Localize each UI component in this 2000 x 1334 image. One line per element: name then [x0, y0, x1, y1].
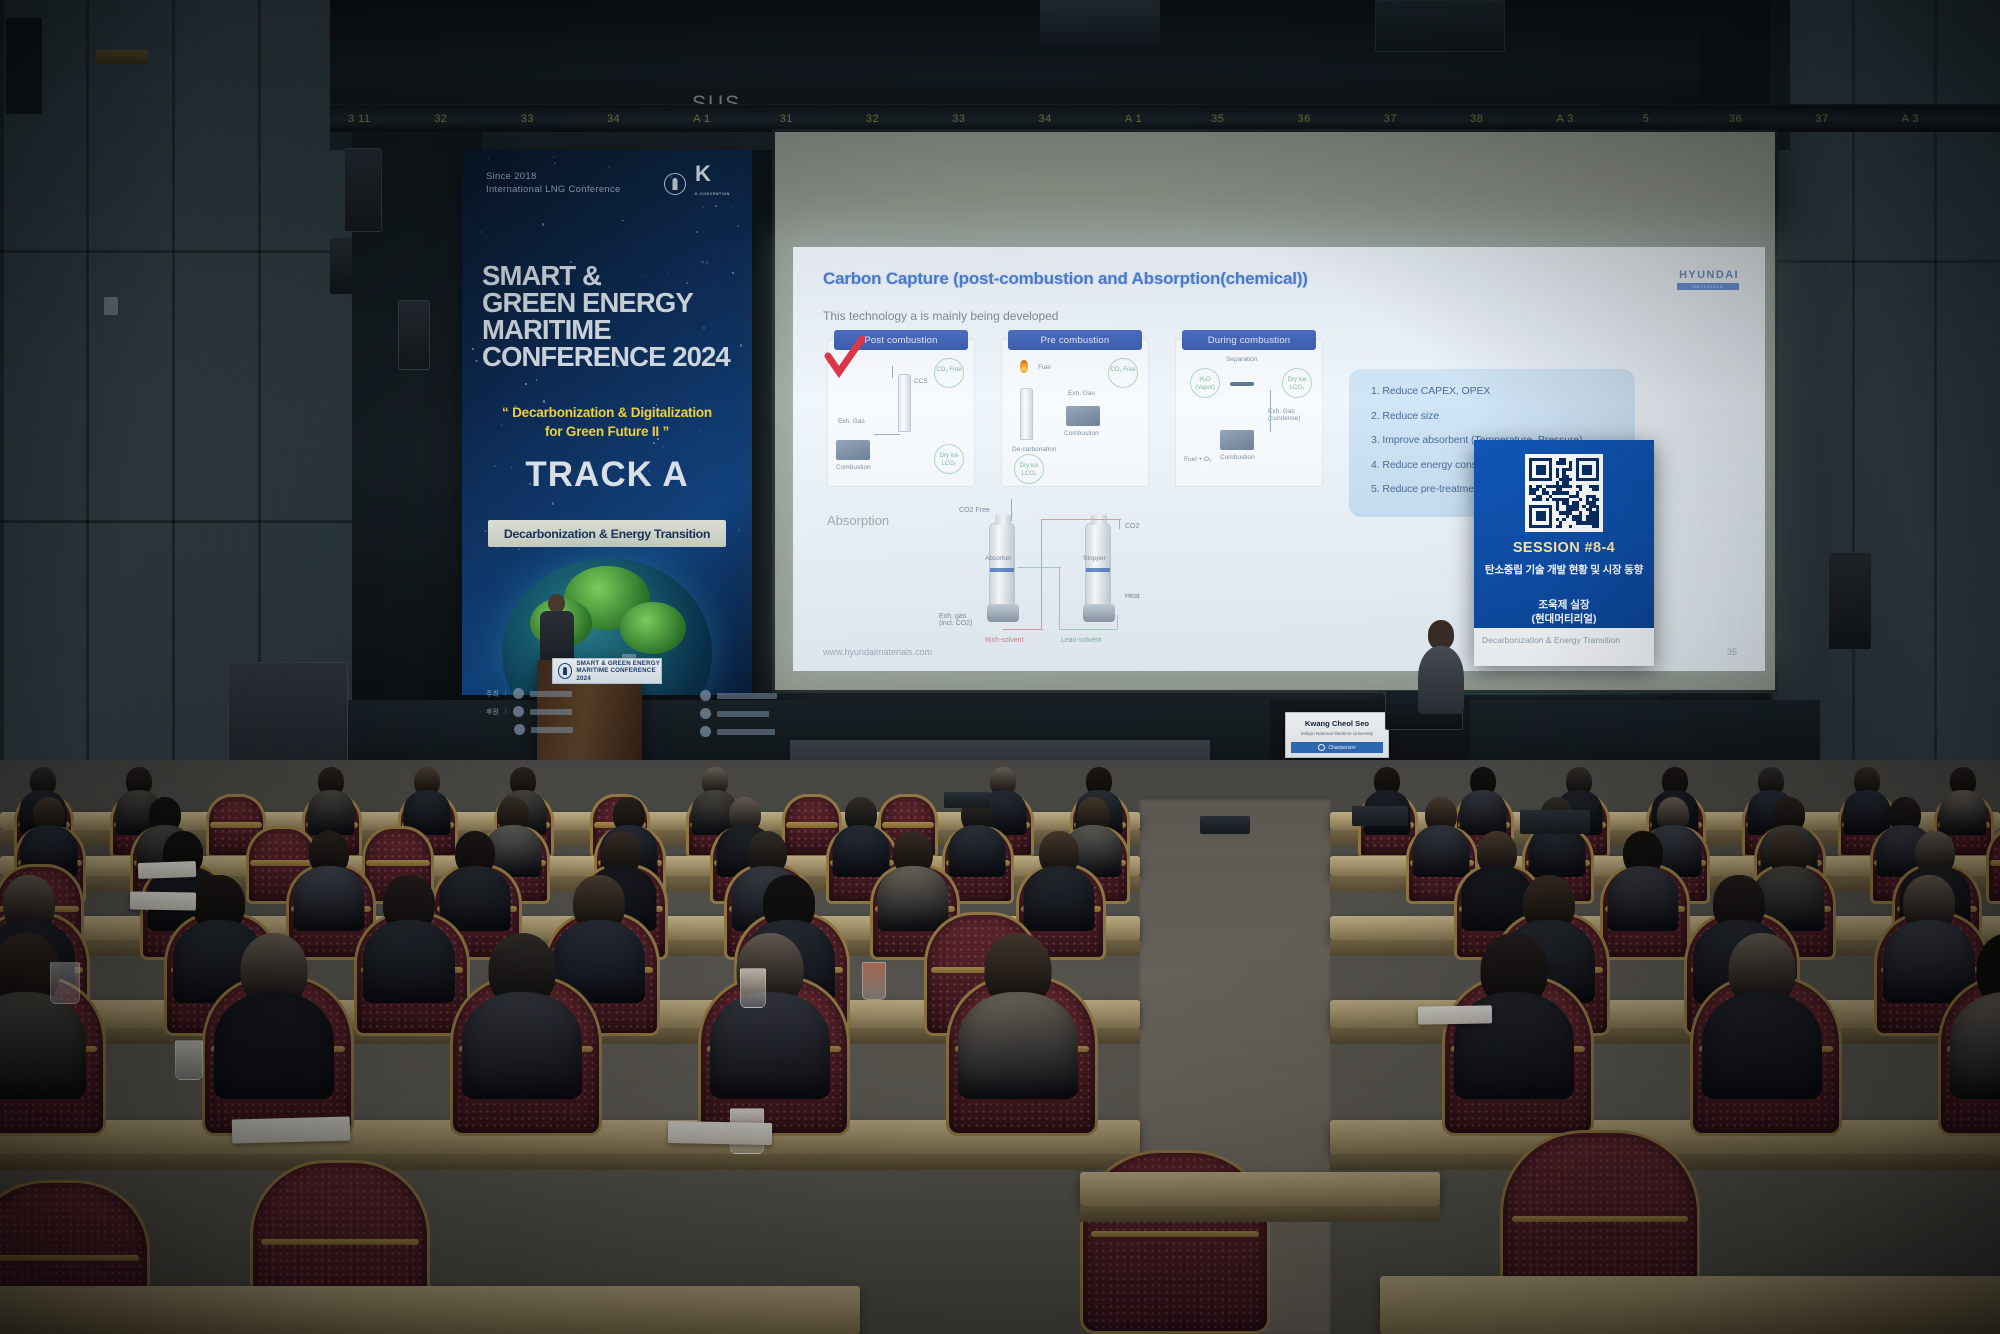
- banner-since-text: Since 2018: [486, 171, 537, 182]
- engine-icon-3: [1220, 430, 1254, 450]
- tip-item: 1. Reduce CAPEX, OPEX: [1371, 385, 1635, 397]
- session-topic-korean: 탄소중립 기술 개발 현황 및 시장 동향: [1474, 562, 1654, 577]
- audience-person[interactable]: [363, 875, 455, 993]
- laptop[interactable]: [1200, 816, 1250, 834]
- rail-tick: 37: [1384, 113, 1397, 125]
- audience-person[interactable]: [948, 797, 1005, 871]
- qr-code[interactable]: [1525, 454, 1603, 532]
- banner-subtitle-text: International LNG Conference: [486, 184, 621, 195]
- session-speaker-korean: 조욱제 실장 (현대머티리얼): [1474, 598, 1654, 626]
- support-label: 후원: [486, 707, 499, 717]
- slide-footer-url: www.hyundaimaterials.com: [823, 647, 932, 657]
- laptop[interactable]: [944, 792, 990, 808]
- wall-speaker-left-2: [398, 300, 430, 370]
- rail-tick: 31: [780, 113, 793, 125]
- drink-cup[interactable]: [862, 962, 886, 1000]
- lean-solvent-tag: Lean-solvent: [1061, 637, 1101, 644]
- session-track-footer: Decarbonization & Energy Transition: [1474, 628, 1654, 666]
- pre-combustion-button[interactable]: Pre combustion: [1008, 330, 1142, 350]
- banner-track-label: TRACK A: [462, 455, 752, 495]
- decarbonation-tower: [1020, 388, 1033, 440]
- rail-tick: 5: [1643, 113, 1650, 125]
- audience-person[interactable]: [214, 933, 334, 1085]
- slide-subtitle: This technology a is mainly being develo…: [823, 309, 1058, 323]
- audience-person[interactable]: [1607, 831, 1678, 923]
- audience-person[interactable]: [20, 797, 77, 871]
- drink-cup[interactable]: [50, 962, 80, 1004]
- wall-speaker-right-2: [1828, 552, 1872, 650]
- audience-person[interactable]: [877, 831, 948, 923]
- audience-person[interactable]: [403, 767, 450, 829]
- co2-tag: CO2: [1125, 523, 1139, 530]
- drink-cup[interactable]: [175, 1040, 203, 1080]
- banner-logos: K K-CONVENTION: [664, 164, 730, 204]
- rail-tick: 34: [607, 113, 620, 125]
- ccs-tower: [898, 374, 911, 432]
- audience-desk[interactable]: [1380, 1276, 2000, 1334]
- notebook[interactable]: [130, 891, 196, 910]
- audience-desk[interactable]: [1080, 1172, 1440, 1206]
- rail-tick: A 3: [1556, 113, 1573, 125]
- banner-title: SMART & GREEN ENERGY MARITIME CONFERENCE…: [482, 262, 730, 370]
- notebook[interactable]: [138, 861, 197, 879]
- co2-free-tag: CO2 Free: [959, 507, 990, 514]
- rail-tick: 33: [952, 113, 965, 125]
- audience-person[interactable]: [293, 831, 364, 923]
- ceiling-projector: [1040, 0, 1160, 46]
- left-wall: [0, 0, 352, 770]
- slide-title: Carbon Capture (post-combustion and Abso…: [823, 269, 1308, 289]
- absorber-column: [989, 523, 1015, 609]
- absorption-diagram: Absorption Absorber Stripper CO2 Free CO…: [813, 497, 1333, 647]
- session-number: SESSION #8-4: [1474, 540, 1654, 556]
- audience-desk[interactable]: [0, 1286, 860, 1334]
- k-convention-logo: K K-CONVENTION: [695, 164, 730, 204]
- audience-person[interactable]: [462, 933, 582, 1085]
- notebook[interactable]: [668, 1121, 772, 1145]
- audience-person[interactable]: [710, 933, 830, 1085]
- conference-emblem-icon: [664, 173, 686, 195]
- hyundai-materials-logo: HYUNDAI MATERIALS: [1677, 269, 1739, 290]
- rail-tick: 38: [1470, 113, 1483, 125]
- rail-tick: A 3: [1902, 113, 1919, 125]
- stripper-label: Stripper: [1083, 555, 1106, 562]
- rail-tick: 34: [1039, 113, 1052, 125]
- sponsor-logos: 주최 | 후원 |: [486, 688, 736, 750]
- ceiling-projector-box: [1375, 0, 1505, 52]
- audience-person[interactable]: [1023, 831, 1094, 923]
- wall-speaker-left: [344, 148, 382, 232]
- stripper-column: [1085, 523, 1111, 609]
- audience-person[interactable]: [1939, 767, 1986, 829]
- engine-icon-2: [1066, 406, 1100, 426]
- chairperson-nameplate: Kwang Cheol Seo Mokpo National Maritime …: [1285, 712, 1389, 758]
- nameplate-name: Kwang Cheol Seo: [1286, 719, 1388, 728]
- notebook[interactable]: [232, 1116, 351, 1143]
- audience-person[interactable]: [307, 767, 354, 829]
- podium-sign: SMART & GREEN ENERGY MARITIME CONFERENCE…: [552, 658, 662, 684]
- rail-tick: 36: [1297, 113, 1310, 125]
- laptop[interactable]: [1520, 810, 1590, 834]
- combustion-cards-row: Post combustion CO₂ Free CCS Exh. Gas Dr…: [827, 339, 1327, 489]
- notebook[interactable]: [1418, 1005, 1492, 1024]
- audience-person[interactable]: [1950, 933, 2000, 1085]
- banner-quote: “ Decarbonization & Digitalization for G…: [462, 403, 752, 441]
- rail-tick: A 1: [693, 113, 710, 125]
- exh-gas-tag: Exh. gas (incl. CO2): [939, 613, 979, 627]
- ceiling-rail: 3 11323334A 131323334A 135363738A 353637…: [330, 104, 2000, 132]
- nameplate-affiliation: Mokpo National Maritime University: [1286, 731, 1388, 736]
- conference-room-photo: SUS 3 11323334A 131323334A 135363738A 35…: [0, 0, 2000, 1334]
- engine-icon: [836, 440, 870, 460]
- audience-person[interactable]: [1528, 797, 1585, 871]
- heat-tag: Heat: [1125, 593, 1140, 600]
- laptop[interactable]: [1352, 806, 1408, 826]
- rail-tick: 36: [1729, 113, 1742, 125]
- rail-tick: A 1: [1125, 113, 1142, 125]
- nameplate-role: Chairperson: [1291, 742, 1383, 753]
- during-combustion-button[interactable]: During combustion: [1182, 330, 1316, 350]
- absorber-label: Absorber: [985, 555, 1011, 562]
- conference-emblem-icon-podium: [558, 663, 572, 679]
- drink-cup[interactable]: [740, 968, 766, 1008]
- rail-tick: 32: [866, 113, 879, 125]
- absorption-label: Absorption: [827, 513, 889, 528]
- audience-person[interactable]: [958, 933, 1078, 1085]
- rail-tick: 35: [1211, 113, 1224, 125]
- session-display-panel: SESSION #8-4 탄소중립 기술 개발 현황 및 시장 동향 조욱제 실…: [1474, 440, 1654, 666]
- rail-tick: 37: [1815, 113, 1828, 125]
- host-label: 주최: [486, 689, 499, 699]
- rail-tick: 33: [521, 113, 534, 125]
- banner-left: Since 2018 International LNG Conference …: [462, 150, 752, 695]
- rich-solvent-tag: Rich-solvent: [985, 637, 1024, 644]
- rail-tick: 3 11: [348, 113, 371, 125]
- combustion-card-during: During combustion Separation H₂O (Vapor)…: [1175, 339, 1323, 487]
- co2-free-badge: CO₂ Free: [934, 358, 964, 388]
- combustion-card-post: Post combustion CO₂ Free CCS Exh. Gas Dr…: [827, 339, 975, 487]
- slide-page-number: 35: [1727, 647, 1737, 657]
- seated-chair-person: [1418, 620, 1464, 710]
- tip-item: 2. Reduce size: [1371, 410, 1635, 422]
- audience-person[interactable]: [1702, 933, 1822, 1085]
- chair[interactable]: [1986, 826, 2000, 904]
- emblem-icon-small: [1318, 744, 1325, 751]
- combustion-card-pre: Pre combustion Fuel CO₂ Free Exh. Gas Co…: [1001, 339, 1149, 487]
- flame-icon: [1020, 360, 1028, 373]
- audience-person[interactable]: [0, 933, 86, 1085]
- banner-track-chip: Decarbonization & Energy Transition: [488, 520, 726, 547]
- rail-tick: 32: [434, 113, 447, 125]
- banner-since: Since 2018 International LNG Conference: [486, 170, 621, 196]
